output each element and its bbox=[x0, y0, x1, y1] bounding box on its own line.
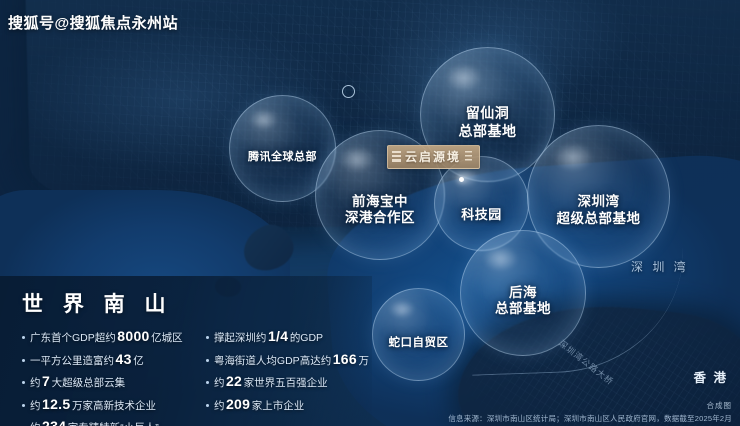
stat-number: 209 bbox=[224, 396, 251, 412]
badge-logo-icon bbox=[392, 151, 401, 162]
stat-left-item: 广东首个GDP超约8000亿城区 bbox=[22, 328, 198, 345]
bubble-shekou-free-trade-zone[interactable]: 蛇口自贸区 bbox=[372, 288, 465, 381]
bullet-dot-icon bbox=[206, 404, 209, 407]
bubble-label: 深圳湾超级总部基地 bbox=[557, 194, 641, 227]
stat-left-item: 约7大超级总部云集 bbox=[22, 373, 198, 390]
stat-right-item: 撑起深圳约1/4的GDP bbox=[206, 328, 372, 345]
stat-left-item: 一平方公里造富约43亿 bbox=[22, 351, 198, 368]
watermark-sohu: 搜狐号@搜狐焦点永州站 bbox=[8, 12, 178, 33]
bubble-label: 蛇口自贸区 bbox=[389, 336, 449, 350]
bullet-text: 约22家世界五百强企业 bbox=[214, 373, 328, 390]
bullet-text: 撑起深圳约1/4的GDP bbox=[214, 328, 323, 345]
stats-bullets: 广东首个GDP超约8000亿城区一平方公里造富约43亿约7大超级总部云集约12.… bbox=[22, 328, 372, 426]
geo-label-hongkong: 香 港 bbox=[694, 367, 728, 386]
bullet-dot-icon bbox=[22, 404, 25, 407]
bullet-text: 约234家专精特新“小巨人” bbox=[30, 418, 159, 426]
stat-number: 43 bbox=[114, 351, 133, 367]
bubble-label: 留仙洞总部基地 bbox=[459, 105, 517, 139]
stat-number: 22 bbox=[224, 373, 243, 389]
bullet-dot-icon bbox=[22, 381, 25, 384]
footer: 合成图 信息来源：深圳市南山区统计局；深圳市南山区人民政府官网，数据截至2025… bbox=[448, 400, 732, 424]
geo-label-shenzhen-bay: 深 圳 湾 bbox=[631, 258, 689, 275]
stat-number: 7 bbox=[41, 373, 52, 389]
bullet-dot-icon bbox=[22, 359, 25, 362]
stat-number: 12.5 bbox=[41, 396, 72, 412]
stat-number: 1/4 bbox=[266, 328, 289, 344]
stat-right-item: 约209家上市企业 bbox=[206, 396, 372, 413]
stats-column-left: 广东首个GDP超约8000亿城区一平方公里造富约43亿约7大超级总部云集约12.… bbox=[22, 328, 198, 426]
map-ring-marker bbox=[342, 85, 355, 98]
bubble-label: 后海总部基地 bbox=[495, 285, 551, 318]
bullet-text: 约209家上市企业 bbox=[214, 396, 304, 413]
bullet-text: 广东首个GDP超约8000亿城区 bbox=[30, 328, 183, 345]
stat-left-item: 约12.5万家高新技术企业 bbox=[22, 396, 198, 413]
bullet-text: 约7大超级总部云集 bbox=[30, 373, 125, 390]
bullet-dot-icon bbox=[206, 336, 209, 339]
badge-logo-secondary-icon bbox=[465, 151, 472, 162]
bullet-dot-icon bbox=[206, 381, 209, 384]
stat-left-item: 约234家专精特新“小巨人” bbox=[22, 418, 198, 426]
stat-number: 8000 bbox=[116, 328, 151, 344]
stats-column-right: 撑起深圳约1/4的GDP粤海街道人均GDP高达约166万约22家世界五百强企业约… bbox=[206, 328, 372, 426]
stat-right-item: 约22家世界五百强企业 bbox=[206, 373, 372, 390]
info-panel: 世 界 南 山 广东首个GDP超约8000亿城区一平方公里造富约43亿约7大超级… bbox=[0, 276, 372, 426]
bubble-label: 腾讯全球总部 bbox=[248, 151, 317, 164]
bubble-houhai-hq-base[interactable]: 后海总部基地 bbox=[460, 230, 586, 356]
bullet-dot-icon bbox=[22, 336, 25, 339]
stat-number: 234 bbox=[41, 418, 68, 426]
bullet-text: 一平方公里造富约43亿 bbox=[30, 351, 144, 368]
composite-image-tag: 合成图 bbox=[448, 400, 732, 411]
badge-label: 云启源境 bbox=[405, 148, 461, 165]
stat-right-item: 粤海街道人均GDP高达约166万 bbox=[206, 351, 372, 368]
bullet-text: 粤海街道人均GDP高达约166万 bbox=[214, 351, 369, 368]
stat-number: 166 bbox=[331, 351, 358, 367]
bullet-text: 约12.5万家高新技术企业 bbox=[30, 396, 156, 413]
bubble-label: 前海宝中深港合作区 bbox=[345, 194, 415, 227]
bubble-label: 科技园 bbox=[461, 207, 502, 223]
bullet-dot-icon bbox=[206, 359, 209, 362]
project-badge-yunqiyuanjing[interactable]: 云启源境 bbox=[387, 145, 480, 169]
science-park-marker-dot bbox=[459, 177, 464, 182]
page-title: 世 界 南 山 bbox=[22, 288, 372, 318]
source-note: 信息来源：深圳市南山区统计局；深圳市南山区人民政府官网，数据截至2025年2月 bbox=[448, 413, 732, 424]
